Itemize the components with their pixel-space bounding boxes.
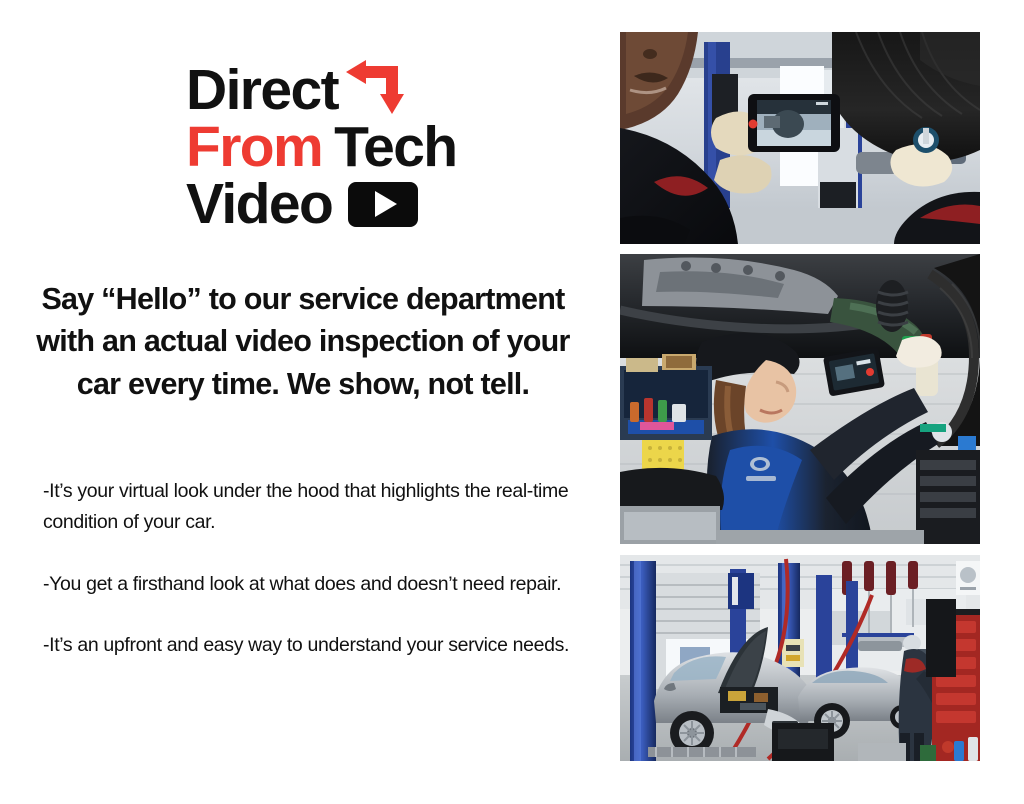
left-content-column: Direct From Tech bbox=[0, 0, 600, 804]
bent-arrow-left-down-icon bbox=[344, 58, 404, 116]
headline: Say “Hello” to our service department wi… bbox=[14, 278, 592, 405]
list-item: -It’s your virtual look under the hood t… bbox=[43, 476, 583, 539]
logo-word-tech: Tech bbox=[334, 120, 456, 175]
logo-word-direct: Direct bbox=[186, 63, 338, 118]
logo-line-from-tech: From Tech bbox=[0, 120, 600, 175]
play-triangle bbox=[375, 191, 397, 217]
logo-line-direct: Direct bbox=[0, 58, 600, 118]
benefit-list: -It’s your virtual look under the hood t… bbox=[43, 456, 583, 662]
photo-technician-filming-undercarriage bbox=[620, 254, 980, 544]
list-item: -You get a firsthand look at what does a… bbox=[43, 569, 583, 601]
logo-word-from: From bbox=[186, 120, 322, 175]
video-play-icon bbox=[348, 182, 418, 227]
list-item: -It’s an upfront and easy way to underst… bbox=[43, 630, 583, 662]
brand-logo: Direct From Tech bbox=[0, 58, 600, 233]
logo-word-video: Video bbox=[186, 177, 332, 232]
photo-service-bay-overview bbox=[620, 555, 980, 761]
photo-technician-filming-tire-tread bbox=[620, 32, 980, 244]
logo-line-video: Video bbox=[0, 177, 600, 232]
flyer-page: Direct From Tech bbox=[0, 0, 1024, 804]
